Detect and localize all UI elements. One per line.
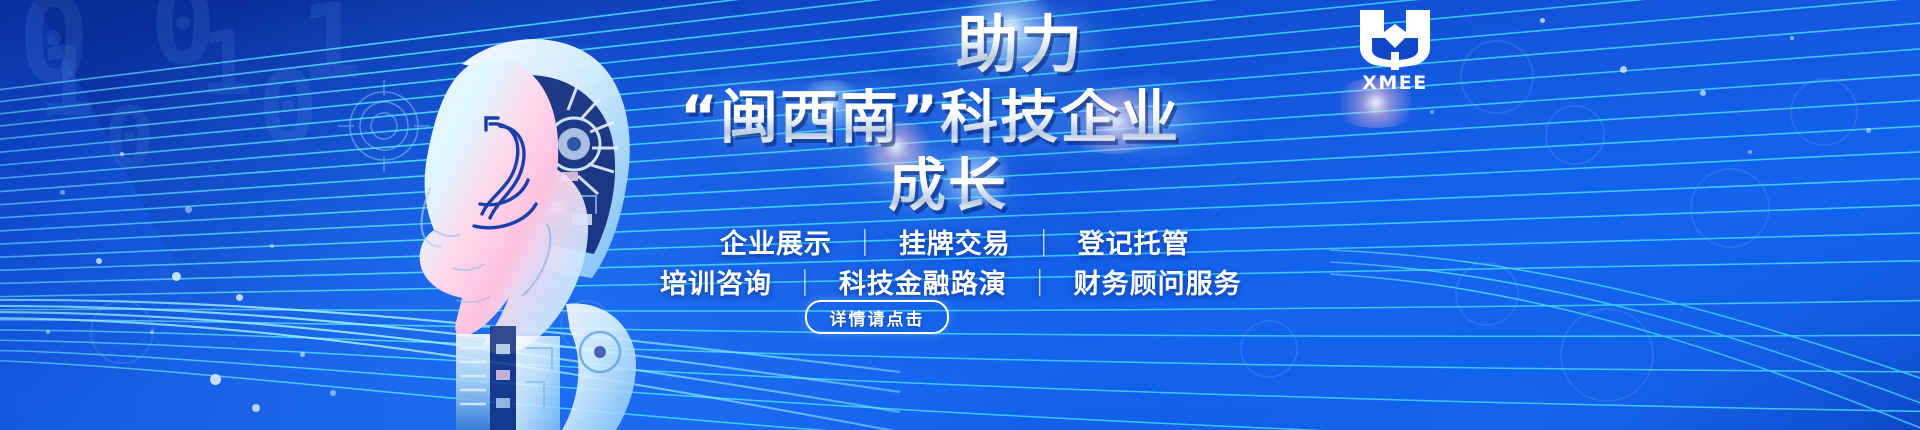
decor-ring [1455, 262, 1519, 326]
service-separator: ｜ [782, 262, 828, 301]
headline-line-1: 助力 [800, 4, 1240, 76]
service-item-financial-advisory: 财务顾问服务 [1074, 269, 1242, 300]
binary-digit-3: 1 [200, 20, 253, 108]
decor-ring [1545, 105, 1605, 165]
particle [96, 258, 102, 264]
decor-ring [1460, 40, 1534, 114]
particle [1620, 66, 1627, 73]
promo-banner: 0 1 0 1 0 1 0 [0, 0, 1920, 430]
particle [150, 330, 154, 334]
details-cta-button[interactable]: 详情请点击 [805, 300, 949, 334]
service-row-1: 企业展示 ｜ 挂牌交易 ｜ 登记托管 [720, 222, 1140, 261]
binary-digit-4: 0 [258, 58, 318, 158]
service-separator: ｜ [1017, 262, 1063, 301]
service-item-listing-trading: 挂牌交易 [899, 229, 1011, 260]
particle [1430, 110, 1434, 114]
binary-digit-0: 0 [18, 0, 90, 102]
particle [270, 244, 274, 248]
service-item-enterprise-display: 企业展示 [720, 229, 832, 260]
headline-block: 助力 “闽西南”科技企业 成长 [620, 4, 1240, 219]
particle [252, 404, 260, 412]
xmee-logo-text: XMEE [1340, 72, 1450, 94]
service-item-training-consulting: 培训咨询 [660, 269, 772, 300]
decor-ring [1790, 78, 1858, 146]
particle [172, 272, 181, 281]
particle [185, 206, 192, 213]
particle [60, 190, 65, 195]
service-item-registration-custody: 登记托管 [1078, 229, 1190, 260]
decor-ring [1690, 168, 1770, 248]
particle [1700, 90, 1706, 96]
binary-digit-6: 0 [104, 96, 155, 180]
binary-digit-2: 0 [150, 0, 216, 80]
particle [1748, 150, 1752, 154]
particle [46, 330, 50, 334]
particle [1866, 128, 1871, 133]
service-row-2: 培训咨询 ｜ 科技金融路演 ｜ 财务顾问服务 [660, 262, 1205, 301]
particle [120, 152, 124, 156]
particle [210, 374, 221, 385]
service-item-tech-finance-roadshow: 科技金融路演 [839, 269, 1007, 300]
service-separator: ｜ [842, 222, 888, 261]
decor-ring [1560, 308, 1654, 402]
service-separator: ｜ [1021, 222, 1067, 261]
particle [1540, 18, 1545, 23]
robot-head-illustration [330, 18, 650, 430]
xmee-mark-icon [1358, 8, 1432, 70]
particle [1790, 36, 1794, 40]
xmee-logo[interactable]: XMEE [1340, 8, 1450, 94]
details-cta-label: 详情请点击 [830, 305, 925, 330]
headline-line-2: “闽西南”科技企业 [620, 88, 1240, 146]
headline-line-3: 成长 [656, 156, 1240, 214]
particle [236, 294, 243, 301]
decor-ring [90, 300, 154, 364]
binary-digit-1: 1 [38, 34, 96, 130]
particle [300, 352, 305, 357]
decor-ring [1240, 320, 1298, 378]
